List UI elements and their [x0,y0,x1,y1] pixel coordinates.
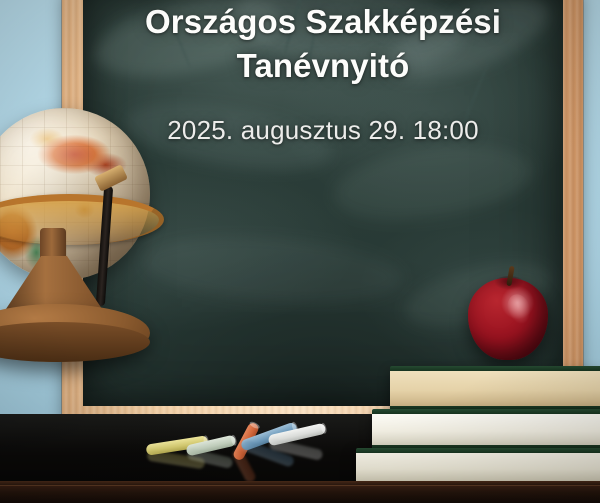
apple-highlight [504,291,534,326]
book-pages [390,371,600,406]
chalk-smudge [141,229,405,311]
book-top [390,366,600,412]
globe-horizon-ring [0,194,164,245]
book-middle [372,409,600,451]
book-pages [356,453,600,482]
poster-image: Országos Szakképzési Tanévnyitó 2025. au… [0,0,600,503]
globe [0,108,158,378]
book-pages [372,414,600,445]
globe-base-lip [0,322,150,362]
desk-front-panel [0,485,600,503]
poster-title: Országos Szakképzési Tanévnyitó [83,0,563,88]
apple [468,278,548,360]
chalk-smudge [329,134,537,231]
